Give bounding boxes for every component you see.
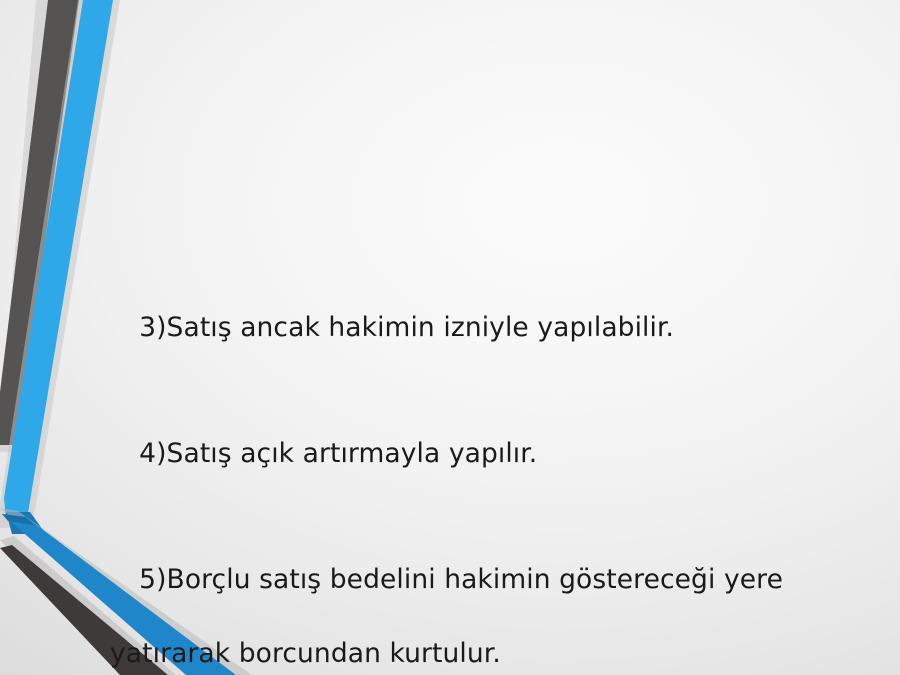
blue-vertex-bevel [6, 512, 46, 534]
gray-stripe-shadow [0, 0, 86, 452]
bullet-item-5-continuation: yatırarak borcundan kurtulur. [88, 635, 830, 672]
blue-fold-highlight [2, 514, 34, 525]
slide-canvas: 3)Satış ancak hakimin izniyle yapılabili… [0, 0, 900, 675]
bullet-item-4: 4)Satış açık artırmayla yapılır. [88, 398, 830, 509]
bullet-item-5-text: 5)Borçlu satış bedelini hakimin gösterec… [139, 564, 783, 595]
gray-stripe-upper [0, 0, 79, 445]
bullet-item-3: 3)Satış ancak hakimin izniyle yapılabili… [88, 272, 830, 383]
bullet-item-5: 5)Borçlu satış bedelini hakimin gösterec… [88, 524, 830, 675]
slide-body-text: 3)Satış ancak hakimin izniyle yapılabili… [88, 272, 830, 675]
bullet-item-3-text: 3)Satış ancak hakimin izniyle yapılabili… [139, 312, 674, 343]
bullet-item-4-text: 4)Satış açık artırmayla yapılır. [139, 438, 537, 469]
